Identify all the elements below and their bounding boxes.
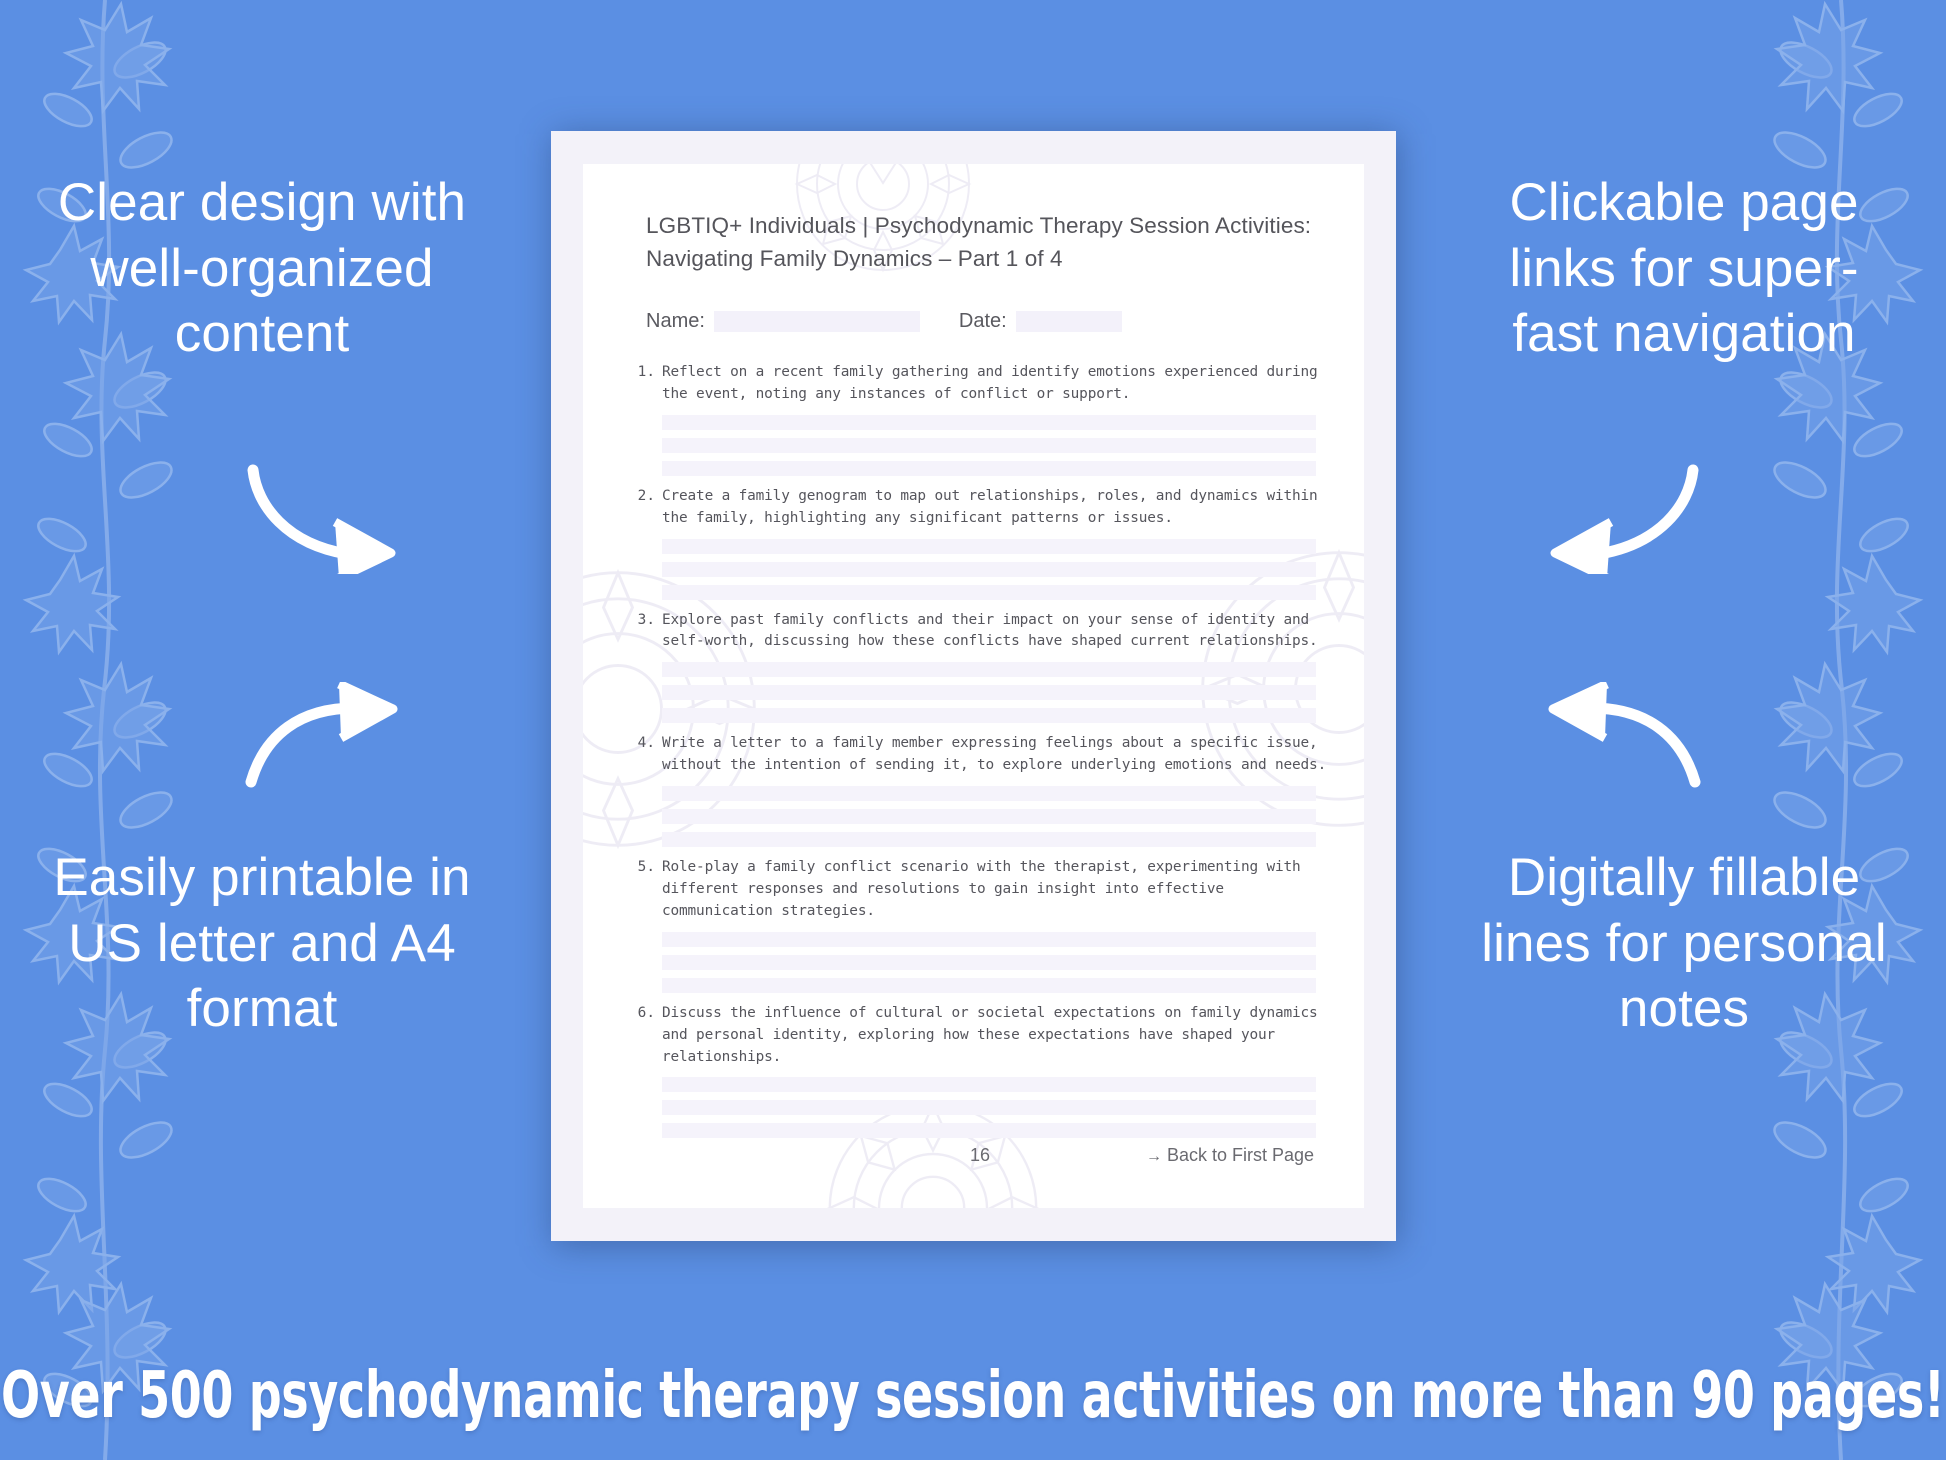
fillable-line[interactable] [662,708,1316,723]
fillable-lines-group [662,662,1316,723]
fillable-line[interactable] [662,832,1316,847]
fillable-line[interactable] [662,786,1316,801]
activity-item: 4.Write a letter to a family member expr… [631,733,1328,847]
activity-item-row: 3.Explore past family conflicts and thei… [631,610,1328,654]
activity-item-text: Create a family genogram to map out rela… [662,486,1328,530]
activity-item: 3.Explore past family conflicts and thei… [631,610,1328,724]
promo-text-bottom-right: Digitally fillable lines for personal no… [1474,845,1894,1042]
activity-item-number: 3. [631,610,662,632]
page-footer: 16 →Back to First Page [646,1145,1314,1166]
bottom-banner-text: Over 500 psychodynamic therapy session a… [1,1359,1945,1433]
date-label: Date: [959,310,1007,333]
back-to-first-page-label: Back to First Page [1167,1145,1314,1165]
fillable-line[interactable] [662,585,1316,600]
worksheet-content-area: LGBTIQ+ Individuals | Psychodynamic Ther… [583,164,1364,1208]
activity-item-row: 6.Discuss the influence of cultural or s… [631,1003,1328,1069]
fillable-line[interactable] [662,539,1316,554]
activity-item-text: Reflect on a recent family gathering and… [662,362,1328,406]
fillable-line[interactable] [662,955,1316,970]
promo-text-bottom-left: Easily printable in US letter and A4 for… [52,845,472,1042]
page-number: 16 [970,1145,990,1166]
promo-poster: Clear design with well-organized content… [0,0,1946,1460]
activity-item-number: 1. [631,362,662,384]
activity-item: 1.Reflect on a recent family gathering a… [631,362,1328,476]
activity-item-row: 2.Create a family genogram to map out re… [631,486,1328,530]
curved-arrow-icon-top-left [243,462,415,574]
curved-arrow-icon-bottom-left [243,682,415,788]
activity-item-row: 4.Write a letter to a family member expr… [631,733,1328,777]
name-input[interactable] [714,311,920,332]
fillable-line[interactable] [662,662,1316,677]
activity-item-row: 5.Role-play a family conflict scenario w… [631,857,1328,923]
fillable-line[interactable] [662,978,1316,993]
name-label: Name: [646,310,705,333]
fillable-line[interactable] [662,1100,1316,1115]
activity-item-number: 6. [631,1003,662,1025]
activity-item-text: Explore past family conflicts and their … [662,610,1328,654]
fillable-line[interactable] [662,438,1316,453]
fillable-line[interactable] [662,1123,1316,1138]
page-title-line2: Navigating Family Dynamics – Part 1 of 4 [646,242,1314,275]
fillable-line[interactable] [662,932,1316,947]
fillable-line[interactable] [662,562,1316,577]
curved-arrow-icon-top-right [1531,462,1703,574]
page-title-line1: LGBTIQ+ Individuals | Psychodynamic Ther… [646,209,1314,242]
worksheet-page: LGBTIQ+ Individuals | Psychodynamic Ther… [551,131,1396,1241]
promo-text-top-right: Clickable page links for super-fast navi… [1474,170,1894,367]
fillable-line[interactable] [662,809,1316,824]
fillable-line[interactable] [662,1077,1316,1092]
activity-item-number: 4. [631,733,662,755]
curved-arrow-icon-bottom-right [1531,682,1703,788]
page-title: LGBTIQ+ Individuals | Psychodynamic Ther… [646,209,1314,275]
activity-list: 1.Reflect on a recent family gathering a… [631,362,1328,1148]
activity-item-number: 2. [631,486,662,508]
fillable-lines-group [662,415,1316,476]
activity-item-number: 5. [631,857,662,879]
activity-item-text: Write a letter to a family member expres… [662,733,1328,777]
activity-item: 6.Discuss the influence of cultural or s… [631,1003,1328,1139]
back-to-first-page-link[interactable]: →Back to First Page [1146,1145,1314,1166]
fillable-line[interactable] [662,415,1316,430]
activity-item: 5.Role-play a family conflict scenario w… [631,857,1328,993]
promo-text-top-left: Clear design with well-organized content [52,170,472,367]
date-input[interactable] [1016,311,1122,332]
activity-item-text: Role-play a family conflict scenario wit… [662,857,1328,923]
fillable-lines-group [662,786,1316,847]
activity-item-text: Discuss the influence of cultural or soc… [662,1003,1328,1069]
activity-item: 2.Create a family genogram to map out re… [631,486,1328,600]
fillable-line[interactable] [662,461,1316,476]
fillable-lines-group [662,539,1316,600]
arrow-right-icon: → [1146,1148,1162,1165]
fillable-lines-group [662,932,1316,993]
activity-item-row: 1.Reflect on a recent family gathering a… [631,362,1328,406]
fillable-lines-group [662,1077,1316,1138]
name-date-row: Name: Date: [646,310,1122,333]
fillable-line[interactable] [662,685,1316,700]
bottom-banner: Over 500 psychodynamic therapy session a… [0,1332,1946,1460]
